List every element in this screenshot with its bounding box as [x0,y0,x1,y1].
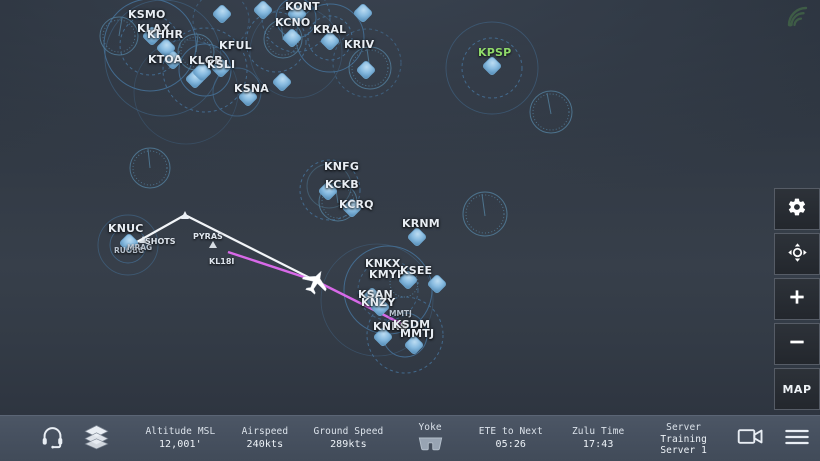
settings-button[interactable] [774,188,820,230]
waypoint-label-pyras[interactable]: PYRAS [193,232,223,241]
readout-yoke[interactable]: Yoke [396,421,465,456]
headset-button[interactable] [30,424,74,453]
map-layers-button[interactable] [74,423,118,454]
readout-altitude: Altitude MSL 12,001' [132,425,228,452]
readout-server-line2: Server 1 [660,445,707,456]
readout-airspeed: Airspeed 240kts [228,425,301,452]
flight-sim-map-screen: KSMOKLAXKHHRKTOAKLGBKSLIKFULKSNAKONTKCNO… [0,0,820,461]
waypoint-label-mrag[interactable]: MRAG [127,243,152,252]
readout-zulu-value: 17:43 [583,438,614,452]
readout-ground-speed-value: 289kts [330,438,367,452]
readout-server[interactable]: Server Training Server 1 [639,421,727,456]
map-controls-panel: MAP [774,188,820,410]
menu-icon [784,427,810,451]
center-map-button[interactable] [774,233,820,275]
route-path [126,211,400,323]
menu-button[interactable] [774,427,820,451]
map-vector-layer [0,0,820,415]
map-mode-label: MAP [782,383,811,396]
readout-altitude-label: Altitude MSL [145,425,215,438]
layers-icon [83,423,110,454]
readout-yoke-label: Yoke [418,421,441,434]
zoom-out-button[interactable] [774,323,820,365]
plus-icon [787,287,807,311]
waypoint-label-kl18i[interactable]: KL18I [209,257,234,266]
readout-ete-value: 05:26 [495,438,526,452]
map-canvas[interactable]: KSMOKLAXKHHRKTOAKLGBKSLIKFULKSNAKONTKCNO… [0,0,820,415]
status-bar: Altitude MSL 12,001' Airspeed 240kts Gro… [0,415,820,461]
readout-ground-speed-label: Ground Speed [314,425,384,438]
readout-altitude-value: 12,001' [159,438,202,452]
yoke-icon [417,435,444,456]
camera-icon [737,427,764,450]
gear-icon [787,197,807,221]
readout-ground-speed: Ground Speed 289kts [301,425,395,452]
readout-ete-label: ETE to Next [479,425,543,438]
airport-symbols [119,0,502,355]
readout-ete-to-next: ETE to Next 05:26 [465,425,557,452]
readout-airspeed-label: Airspeed [242,425,289,438]
readout-zulu-time: Zulu Time 17:43 [557,425,640,452]
waypoint-label-mmtj[interactable]: MMTJ [389,309,412,318]
headset-icon [40,424,65,453]
minus-icon [787,332,807,356]
readout-zulu-label: Zulu Time [572,425,624,438]
readout-airspeed-value: 240kts [247,438,284,452]
aircraft-icon [299,265,333,298]
map-mode-button[interactable]: MAP [774,368,820,410]
wifi-signal-icon [785,5,811,29]
camera-button[interactable] [728,427,774,450]
readout-server-line1: Training [660,434,707,445]
crosshair-icon [787,242,808,267]
readout-server-label: Server [666,421,701,434]
zoom-in-button[interactable] [774,278,820,320]
